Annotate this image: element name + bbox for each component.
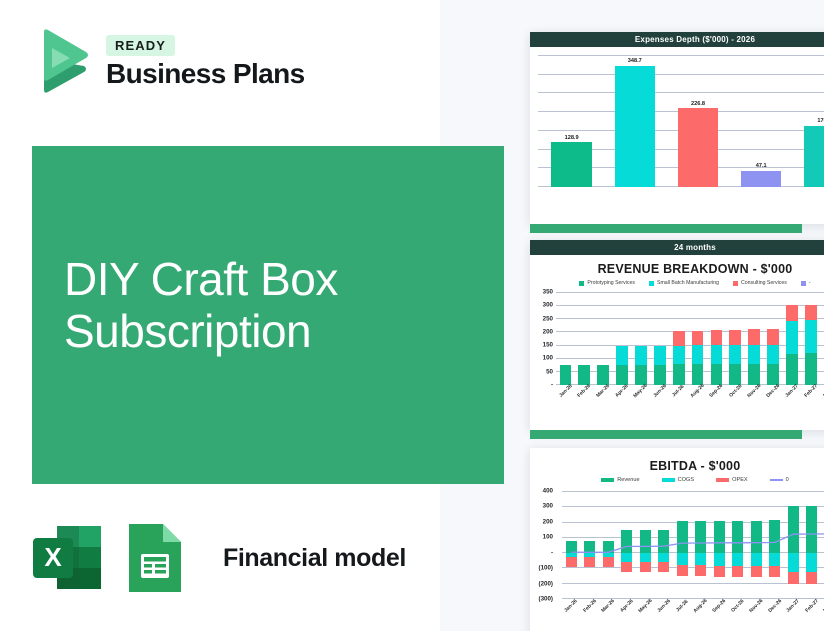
revenue-bars — [556, 292, 824, 385]
legend-label: COGS — [678, 477, 694, 483]
revenue-stack-segment — [786, 321, 798, 354]
x-tick-label: Sep-26 — [707, 388, 726, 394]
revenue-stack[interactable] — [597, 365, 609, 385]
x-tick-label: Jan-26 — [562, 603, 581, 609]
google-sheets-icon — [121, 520, 193, 596]
hero-title-block: DIY Craft Box Subscription — [32, 146, 504, 484]
page-title-line1: DIY Craft Box — [64, 254, 338, 306]
expenses-bar-value: 348.7 — [628, 58, 642, 64]
revenue-stack-segment — [711, 364, 723, 385]
x-tick-label: Feb-26 — [581, 603, 600, 609]
revenue-stack-segment — [692, 364, 704, 385]
revenue-stack-segment — [748, 345, 760, 364]
expenses-header-bar: Expenses Depth ($'000) - 2026 — [530, 32, 824, 47]
y-tick-label: (300) — [539, 596, 553, 603]
ebitda-plot-area: 400300200100-(100)(200)(300) Jan-26Feb-2… — [530, 485, 824, 625]
revenue-stack-segment — [673, 346, 685, 365]
y-tick-label: 100 — [543, 355, 553, 362]
revenue-accent-bar — [530, 430, 802, 439]
footer-row: X Financial model — [31, 520, 406, 596]
revenue-stack-segment — [635, 346, 647, 365]
revenue-bar-column — [707, 292, 726, 385]
revenue-stack-segment — [692, 331, 704, 346]
revenue-stack[interactable] — [711, 330, 723, 385]
revenue-stack[interactable] — [616, 346, 628, 385]
revenue-header-bar: 24 months — [530, 240, 824, 255]
y-tick-label: - — [551, 549, 553, 556]
y-tick-label: 400 — [543, 488, 553, 495]
ebitda-y-axis: 400300200100-(100)(200)(300) — [530, 485, 556, 625]
expenses-bar-value: 47.1 — [756, 163, 767, 169]
revenue-y-axis: 35030025020015010050- — [530, 288, 556, 403]
expenses-bar-value: 176.5 — [817, 118, 824, 124]
brand-logo[interactable]: READY Business Plans — [30, 28, 305, 94]
revenue-stack-segment — [616, 346, 628, 365]
footer-label: Financial model — [223, 544, 406, 573]
legend-label: Consulting Services — [741, 280, 787, 286]
expenses-bar[interactable] — [741, 171, 781, 187]
revenue-stack-segment — [654, 365, 666, 385]
revenue-bar-column — [820, 292, 824, 385]
x-tick-label: Apr-26 — [618, 603, 637, 609]
legend-swatch — [770, 479, 783, 481]
revenue-bar-column — [669, 292, 688, 385]
ebitda-bars — [562, 491, 824, 599]
legend-label: Revenue — [617, 477, 639, 483]
ebitda-x-axis: Jan-26Feb-26Mar-26Apr-26May-26Jun-26Jul-… — [562, 603, 824, 609]
legend-label: 0 — [786, 477, 789, 483]
chart-card-expenses[interactable]: Expenses Depth ($'000) - 2026 128.9348.7… — [530, 32, 824, 224]
y-tick-label: 350 — [543, 289, 553, 296]
revenue-bar-column — [801, 292, 820, 385]
revenue-x-axis: Jan-26Feb-26Mar-26Apr-26May-26Jun-26Jul-… — [556, 388, 824, 394]
ebitda-chart-title: EBITDA - $'000 — [530, 448, 824, 475]
expenses-bar[interactable] — [551, 142, 591, 187]
revenue-stack[interactable] — [578, 365, 590, 385]
revenue-bar-column — [726, 292, 745, 385]
revenue-stack[interactable] — [654, 346, 666, 385]
expenses-plot-area: 128.9348.7226.847.1176.5 — [530, 47, 824, 189]
revenue-stack-segment — [654, 346, 666, 365]
x-tick-label: Feb-26 — [575, 388, 594, 394]
legend-item[interactable]: 0 — [770, 477, 789, 483]
legend-swatch — [733, 281, 738, 286]
legend-label: OPEX — [732, 477, 748, 483]
legend-swatch — [579, 281, 584, 286]
x-tick-label: Mar-26 — [599, 603, 618, 609]
y-tick-label: (100) — [539, 565, 553, 572]
expenses-bar-column: 128.9 — [540, 55, 603, 187]
revenue-plot-area: 35030025020015010050- Jan-26Feb-26Mar-26… — [530, 288, 824, 403]
y-tick-label: 100 — [543, 534, 553, 541]
legend-item[interactable]: Consulting Services — [733, 280, 787, 286]
y-tick-label: - — [551, 382, 553, 389]
x-tick-label: Sep-26 — [710, 603, 729, 609]
svg-text:X: X — [44, 542, 62, 572]
brand-name: Business Plans — [106, 60, 305, 88]
x-tick-label: Jun-26 — [655, 603, 674, 609]
revenue-stack-segment — [711, 330, 723, 345]
legend-label: - — [809, 280, 811, 286]
x-tick-label: Nov-26 — [745, 388, 764, 394]
y-tick-label: 200 — [543, 328, 553, 335]
revenue-stack-segment — [729, 345, 741, 364]
revenue-bar-column — [764, 292, 783, 385]
x-tick-label: Feb-27 — [803, 603, 822, 609]
legend-swatch — [662, 478, 675, 482]
revenue-stack-segment — [692, 345, 704, 364]
expenses-bar[interactable] — [804, 126, 824, 187]
x-tick-label: Jan-26 — [556, 388, 575, 394]
revenue-stack[interactable] — [786, 305, 798, 385]
x-tick-label: May-26 — [636, 603, 655, 609]
revenue-stack-segment — [805, 353, 817, 385]
revenue-bar-column — [594, 292, 613, 385]
x-tick-label: Jul-26 — [669, 388, 688, 394]
revenue-stack-segment — [729, 364, 741, 385]
revenue-stack[interactable] — [673, 331, 685, 385]
revenue-stack-segment — [597, 365, 609, 385]
x-tick-label: Oct-26 — [729, 603, 748, 609]
ready-badge: READY — [106, 35, 175, 56]
revenue-stack-segment — [748, 329, 760, 344]
ebitda-legend: RevenueCOGSOPEX0 — [530, 475, 824, 485]
legend-item[interactable]: COGS — [662, 477, 694, 483]
revenue-bar-column — [556, 292, 575, 385]
legend-item[interactable]: OPEX — [716, 477, 748, 483]
x-tick-label: Apr-26 — [613, 388, 632, 394]
x-tick-label: Jun-26 — [650, 388, 669, 394]
x-tick-label: Feb-27 — [801, 388, 820, 394]
x-tick-label: May-26 — [632, 388, 651, 394]
expenses-bar[interactable] — [615, 66, 655, 187]
y-tick-label: 200 — [543, 518, 553, 525]
revenue-bar-column — [745, 292, 764, 385]
revenue-stack-segment — [767, 329, 779, 344]
revenue-stack-segment — [805, 320, 817, 353]
revenue-stack[interactable] — [692, 331, 704, 385]
revenue-stack[interactable] — [767, 329, 779, 385]
legend-swatch — [716, 478, 729, 482]
revenue-stack-segment — [673, 364, 685, 385]
x-tick-label: Mar-27 — [820, 388, 824, 394]
revenue-stack[interactable] — [635, 346, 647, 385]
x-tick-label: Oct-26 — [726, 388, 745, 394]
legend-swatch — [649, 281, 654, 286]
y-tick-label: 250 — [543, 315, 553, 322]
expenses-accent-bar — [530, 224, 802, 233]
y-tick-label: (200) — [539, 580, 553, 587]
x-tick-label: Jan-27 — [784, 603, 803, 609]
legend-item[interactable]: Small Batch Manufacturing — [649, 280, 719, 286]
revenue-stack-segment — [711, 345, 723, 364]
y-tick-label: 150 — [543, 342, 553, 349]
legend-item[interactable]: Prototyping Services — [579, 280, 635, 286]
expenses-bar-column: 226.8 — [666, 55, 729, 187]
revenue-stack-segment — [616, 365, 628, 385]
y-tick-label: 300 — [543, 302, 553, 309]
revenue-stack[interactable] — [748, 329, 760, 385]
legend-item[interactable]: - — [801, 280, 811, 286]
page-title-line2: Subscription — [64, 306, 338, 358]
revenue-stack-segment — [767, 345, 779, 364]
revenue-bar-column — [575, 292, 594, 385]
chart-card-revenue[interactable]: 24 months REVENUE BREAKDOWN - $'000 Prot… — [530, 240, 824, 430]
y-tick-label: 50 — [546, 368, 553, 375]
revenue-stack-segment — [560, 365, 572, 385]
x-tick-label: Nov-26 — [747, 603, 766, 609]
y-tick-label: 300 — [543, 503, 553, 510]
expenses-bar-column: 348.7 — [603, 55, 666, 187]
revenue-bar-column — [783, 292, 802, 385]
revenue-chart-title: REVENUE BREAKDOWN - $'000 — [530, 255, 824, 278]
chart-card-ebitda[interactable]: EBITDA - $'000 RevenueCOGSOPEX0 40030020… — [530, 448, 824, 631]
revenue-stack-segment — [805, 305, 817, 321]
expenses-bar-column: 47.1 — [730, 55, 793, 187]
x-tick-label: Aug-26 — [692, 603, 711, 609]
revenue-stack-segment — [786, 354, 798, 385]
legend-swatch — [801, 281, 806, 286]
revenue-stack-segment — [767, 364, 779, 385]
legend-label: Prototyping Services — [587, 280, 635, 286]
x-tick-label: Dec-26 — [764, 388, 783, 394]
brand-text-group: READY Business Plans — [106, 35, 305, 88]
excel-icon: X — [31, 520, 103, 596]
revenue-stack-segment — [729, 330, 741, 345]
x-tick-label: Dec-26 — [766, 603, 785, 609]
x-tick-label: Aug-26 — [688, 388, 707, 394]
x-tick-label: Mar-26 — [594, 388, 613, 394]
x-tick-label: Jan-27 — [783, 388, 802, 394]
play-chevron-logo-icon — [30, 28, 92, 94]
revenue-stack-segment — [635, 365, 647, 385]
revenue-stack-segment — [786, 305, 798, 321]
revenue-bar-column — [632, 292, 651, 385]
revenue-bar-column — [650, 292, 669, 385]
legend-item[interactable]: Revenue — [601, 477, 639, 483]
revenue-stack[interactable] — [729, 330, 741, 385]
expenses-bar-value: 226.8 — [691, 101, 705, 107]
revenue-stack[interactable] — [805, 305, 817, 385]
expenses-bar-column: 176.5 — [793, 55, 824, 187]
revenue-stack[interactable] — [560, 365, 572, 385]
revenue-stack-segment — [673, 331, 685, 346]
revenue-stack-segment — [578, 365, 590, 385]
revenue-bar-column — [613, 292, 632, 385]
expenses-bar[interactable] — [678, 108, 718, 187]
expenses-bar-value: 128.9 — [565, 135, 579, 141]
legend-label: Small Batch Manufacturing — [657, 280, 719, 286]
ebitda-zero-line — [562, 491, 824, 599]
revenue-legend: Prototyping ServicesSmall Batch Manufact… — [530, 278, 824, 288]
page-title: DIY Craft Box Subscription — [32, 254, 338, 375]
revenue-bar-column — [688, 292, 707, 385]
x-tick-label: Jul-26 — [673, 603, 692, 609]
poster-canvas: READY Business Plans DIY Craft Box Subsc… — [0, 0, 824, 631]
expenses-bars: 128.9348.7226.847.1176.5 — [540, 55, 824, 187]
legend-swatch — [601, 478, 614, 482]
